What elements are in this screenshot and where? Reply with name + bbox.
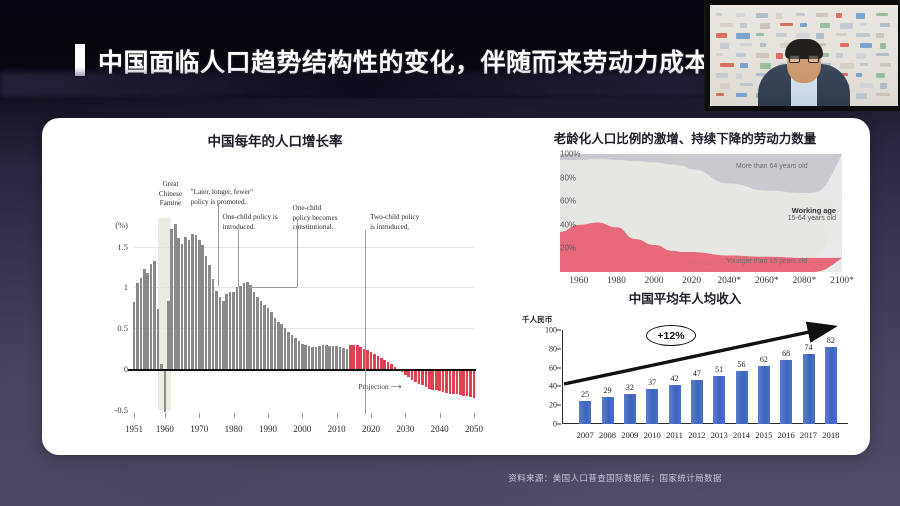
- x-axis-tick: [234, 413, 235, 418]
- bar: [456, 369, 459, 394]
- bar: 472012: [691, 380, 703, 424]
- bar: [325, 345, 328, 369]
- bar: [284, 328, 287, 369]
- x-axis-tick-label: 2020: [362, 424, 380, 434]
- bar: [157, 309, 160, 369]
- bar: [304, 345, 307, 369]
- bar: [373, 354, 376, 370]
- x-axis-tick-label: 1990: [259, 424, 277, 434]
- chart-age-structure: 老龄化人口比例的激增、持续下降的劳动力数量 100%80%60%40%20%19…: [500, 118, 870, 283]
- x-axis-tick-label: 2018: [822, 430, 839, 440]
- x-axis-tick-label: 2012: [688, 430, 705, 440]
- bar-value-label: 32: [626, 383, 634, 392]
- bar: [318, 346, 321, 369]
- bar: [459, 369, 462, 395]
- video-frame: [710, 5, 898, 106]
- x-axis-tick-label: 2100*: [830, 276, 854, 286]
- y-axis-tick: [557, 330, 561, 331]
- bar: [425, 369, 428, 387]
- presenter-video-overlay[interactable]: [704, 0, 900, 111]
- y-axis-unit-label: (%): [115, 220, 128, 230]
- bar: [380, 358, 383, 369]
- bar: [229, 292, 232, 370]
- bar: 292008: [602, 397, 614, 424]
- bar-value-label: 29: [604, 386, 612, 395]
- bar: [445, 369, 448, 393]
- bar: [387, 362, 390, 369]
- bar: [462, 369, 465, 396]
- leader-line-constitutional: [297, 220, 298, 287]
- income-y-axis: [562, 330, 563, 424]
- y-axis-tick-label: 1.5: [117, 242, 128, 252]
- bar: 322009: [624, 394, 636, 424]
- bar: [184, 237, 187, 369]
- bar: [315, 347, 318, 369]
- bar: [421, 369, 424, 385]
- bar-value-label: 62: [760, 355, 768, 364]
- x-axis-tick-label: 2017: [800, 430, 817, 440]
- bar-value-label: 82: [827, 336, 835, 345]
- x-axis-tick: [268, 413, 269, 418]
- bar: [352, 345, 355, 370]
- x-axis-tick-label: 2060*: [755, 276, 779, 286]
- y-axis-tick-label: -0.5: [115, 405, 128, 415]
- bar: 252007: [579, 401, 591, 425]
- x-axis-tick-label: 1970: [190, 424, 208, 434]
- bar: [150, 264, 153, 369]
- bar: [243, 283, 246, 369]
- x-axis-tick-label: 2010: [328, 424, 346, 434]
- x-axis-tick-label: 2011: [666, 430, 683, 440]
- bar: 822018: [825, 347, 837, 424]
- bar: [167, 301, 170, 369]
- bar: [280, 324, 283, 369]
- bar: [442, 369, 445, 392]
- x-axis-tick-label: 2007: [577, 430, 594, 440]
- bar: [263, 305, 266, 369]
- x-axis-tick: [302, 413, 303, 418]
- leader-line-later: [218, 204, 219, 286]
- y-axis-tick: [557, 348, 561, 349]
- bar: [438, 369, 441, 391]
- bar: [431, 369, 434, 389]
- title-accent-bar: [75, 44, 85, 76]
- bar-value-label: 68: [782, 349, 790, 358]
- x-axis-tick-label: 2030: [396, 424, 414, 434]
- y-axis-tick: [557, 424, 561, 425]
- bar: [349, 345, 352, 369]
- zero-axis-line: [128, 369, 476, 371]
- bar: [298, 341, 301, 369]
- y-axis-tick-label: 100: [545, 326, 557, 335]
- y-axis-tick-label: 80: [549, 344, 557, 353]
- bar-value-label: 51: [715, 365, 723, 374]
- bar: [215, 291, 218, 369]
- x-axis-tick: [371, 413, 372, 418]
- bar: [236, 287, 239, 369]
- bar: [418, 369, 421, 384]
- annotation-later-longer-fewer: "Later, longer, fewer" policy is promote…: [191, 188, 253, 207]
- bar: [277, 322, 280, 369]
- x-axis-tick-label: 2009: [621, 430, 638, 440]
- income-y-axis-label: 千人民币: [522, 314, 552, 325]
- x-axis-tick-label: 2014: [733, 430, 750, 440]
- x-axis-tick-label: 1980: [607, 276, 626, 286]
- bar: [246, 282, 249, 369]
- bar: [359, 347, 362, 369]
- bar: [308, 346, 311, 369]
- x-axis-tick-label: 1960: [569, 276, 588, 286]
- y-axis-tick-label: 20: [549, 401, 557, 410]
- x-axis-tick-label: 2000: [645, 276, 664, 286]
- bar: [311, 347, 314, 369]
- bar-value-label: 37: [648, 378, 656, 387]
- bar: [342, 348, 345, 369]
- x-axis-tick-label: 2000: [293, 424, 311, 434]
- bar: [212, 279, 215, 369]
- x-axis-tick: [199, 413, 200, 418]
- bar: [291, 335, 294, 369]
- chart-title-income: 中国平均年人均收入: [500, 288, 870, 307]
- page-title: 中国面临人口趋势结构性的变化，伴随而来劳动力成本迅速提: [98, 43, 787, 79]
- x-axis-tick-label: 2010: [644, 430, 661, 440]
- bar: [195, 235, 198, 369]
- bar: [449, 369, 452, 394]
- bar: [366, 350, 369, 369]
- bar: 422011: [669, 385, 681, 424]
- x-axis-tick-label: 1960: [156, 424, 174, 434]
- bar: [239, 286, 242, 369]
- bar: [188, 240, 191, 369]
- bar: [256, 297, 259, 369]
- bar-value-label: 74: [805, 343, 813, 352]
- label-working-age: Working age15-64 years old: [732, 206, 836, 222]
- chart-population-growth-rate: 中国每年的人口增长率 1.510.50-0.5(%)19511960197019…: [50, 118, 500, 455]
- y-axis-tick: [557, 367, 561, 368]
- x-axis-tick-label: 2040*: [717, 276, 741, 286]
- bar: [232, 292, 235, 369]
- bar: [249, 285, 252, 369]
- bar: [328, 346, 331, 369]
- chart-title-growth-rate: 中国每年的人口增长率: [50, 130, 500, 150]
- bar: 512013: [713, 376, 725, 424]
- x-axis-tick-label: 2050: [465, 424, 483, 434]
- income-plot-area: 1008060402002520072920083220093720104220…: [562, 330, 844, 424]
- bar: [346, 349, 349, 369]
- bar: [335, 346, 338, 369]
- x-axis-tick-label: 2013: [711, 430, 728, 440]
- bar: [205, 256, 208, 369]
- bar: [225, 294, 228, 369]
- bar: [466, 369, 469, 396]
- x-axis-tick-label: 1951: [125, 424, 143, 434]
- projected-marker: Projected ⟶: [688, 259, 726, 267]
- bar: [177, 238, 180, 369]
- bar: [140, 278, 143, 370]
- bar: [301, 344, 304, 369]
- bar: [377, 356, 380, 369]
- x-axis-tick: [337, 413, 338, 418]
- bar: [383, 360, 386, 369]
- content-card: 中国每年的人口增长率 1.510.50-0.5(%)19511960197019…: [42, 118, 870, 455]
- x-axis-tick: [134, 413, 135, 418]
- bar: [322, 345, 325, 369]
- label-older-than-64: More than 64 years old: [736, 163, 808, 170]
- bar: [174, 224, 177, 369]
- annotation-two-child-introduced: Two-child policy is introduced.: [370, 213, 419, 232]
- y-axis-tick-label: 60: [549, 363, 557, 372]
- x-axis-tick-label: 2080*: [793, 276, 817, 286]
- bar: [208, 265, 211, 370]
- bar: [287, 332, 290, 370]
- bar: 562014: [736, 371, 748, 424]
- x-axis-tick-label: 2015: [755, 430, 772, 440]
- bar: [146, 273, 149, 369]
- growth-rate-plot-area: 1.510.50-0.5(%)1951196019701980199020002…: [134, 218, 474, 410]
- bar: [143, 269, 146, 369]
- bar: [170, 229, 173, 370]
- annotation-great-famine: Great Chinese Famine: [150, 180, 190, 209]
- x-axis-tick-label: 1980: [225, 424, 243, 434]
- bar: 742017: [803, 354, 815, 424]
- source-text: 资料来源：美国人口普查国际数据库；国家统计局数据: [508, 472, 722, 484]
- y-axis-tick-label: 40: [549, 382, 557, 391]
- bar: [428, 369, 431, 389]
- source-footnote: 资料来源：美国人口普查国际数据库；国家统计局数据: [0, 472, 900, 484]
- x-axis-tick-label: 2040: [431, 424, 449, 434]
- x-axis-tick-label: 2008: [599, 430, 616, 440]
- bar: [435, 369, 438, 390]
- label-younger-than-15: Younger than 15 years old: [726, 258, 807, 265]
- bar: [332, 346, 335, 369]
- bar: [219, 297, 222, 369]
- presenter-glasses-icon: [789, 55, 819, 63]
- annotation-one-child-constitutional: One-child policy becomes constitutional.: [293, 204, 338, 233]
- x-axis-tick: [474, 413, 475, 418]
- slide-stage: 中国面临人口趋势结构性的变化，伴随而来劳动力成本迅速提 中国每年的人口增长率 1…: [0, 0, 900, 506]
- leader-line-constitutional-h: [248, 287, 296, 288]
- x-axis-tick: [405, 413, 406, 418]
- y-axis-tick-label: 0.5: [117, 323, 128, 333]
- projection-marker: Projection ⟶: [358, 382, 401, 391]
- bar-value-label: 56: [738, 360, 746, 369]
- x-axis-tick-label: 2016: [778, 430, 795, 440]
- chart-average-income: 中国平均年人均收入 千人民币 1008060402002520072920083…: [500, 286, 870, 455]
- bar: [356, 345, 359, 369]
- bar: [201, 245, 204, 369]
- chart-title-age-structure: 老龄化人口比例的激增、持续下降的劳动力数量: [500, 128, 870, 147]
- bar: [198, 240, 201, 369]
- y-axis-tick: [557, 386, 561, 387]
- x-axis-tick-label: 2020: [682, 276, 701, 286]
- y-axis-tick: [557, 405, 561, 406]
- bar-value-label: 47: [693, 369, 701, 378]
- bar: [274, 318, 277, 369]
- bar: [181, 244, 184, 369]
- bar: 622015: [758, 366, 770, 424]
- bar-value-label: 42: [671, 374, 679, 383]
- bar: [473, 369, 476, 398]
- bar: [267, 308, 270, 369]
- bar: [452, 369, 455, 394]
- bar: [294, 338, 297, 369]
- bar: [222, 301, 225, 370]
- bar: [191, 234, 194, 370]
- leader-line-onechild: [238, 230, 239, 287]
- x-axis-tick: [440, 413, 441, 418]
- y-axis-tick-label: 0: [553, 420, 557, 429]
- bar: 372010: [646, 389, 658, 424]
- bar: [260, 301, 263, 369]
- annotation-one-child-introduced: One-child policy is introduced.: [223, 213, 278, 232]
- growth-rate-badge: +12%: [646, 325, 696, 346]
- bar: 682016: [780, 360, 792, 424]
- bar: [136, 283, 139, 369]
- y-axis-tick-label: 1: [124, 282, 128, 292]
- bar: [414, 369, 417, 382]
- bar-value-label: 25: [581, 390, 589, 399]
- bar: [370, 352, 373, 369]
- bar: [153, 261, 156, 369]
- bar: [253, 292, 256, 370]
- bar: [469, 369, 472, 397]
- x-axis-tick: [165, 413, 166, 418]
- bar: [133, 302, 136, 369]
- bar: [339, 347, 342, 369]
- bar: [270, 312, 273, 369]
- bar: [164, 369, 167, 411]
